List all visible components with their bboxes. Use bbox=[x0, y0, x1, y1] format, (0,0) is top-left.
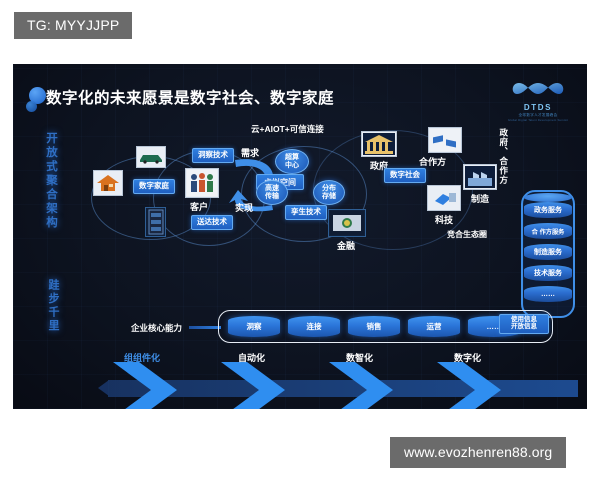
presentation-slide: 数字化的未来愿景是数字社会、数字家庭 DTDS 全球数字人才发展峰会 Globa… bbox=[13, 64, 587, 409]
pillar-layer: 技术服务 bbox=[524, 265, 572, 281]
journey-chevron bbox=[113, 362, 191, 409]
house-icon bbox=[93, 170, 123, 196]
label-customer: 客户 bbox=[190, 200, 208, 213]
label-realize: 实现 bbox=[235, 201, 253, 214]
node-distributed: 分布存储 bbox=[313, 180, 345, 205]
label-demand: 需求 bbox=[241, 146, 259, 159]
pillar-layer: 政务服务 bbox=[524, 202, 572, 218]
journey-step-label: 数智化 bbox=[346, 351, 373, 364]
label-partner: 合作方 bbox=[419, 155, 446, 168]
pillar-layer: 制造服务 bbox=[524, 244, 572, 260]
tag-digital-home: 数字家庭 bbox=[133, 179, 175, 194]
side-label-architecture: 开放式聚合架构 bbox=[43, 132, 59, 230]
capability-cylinder: 洞察 bbox=[228, 316, 280, 337]
capability-cylinder: 连接 bbox=[288, 316, 340, 337]
pillar-layer: …… bbox=[524, 286, 572, 302]
label-cloud-aiot: 云+AIOT+可信连接 bbox=[251, 123, 324, 135]
finance-bank-icon bbox=[328, 209, 366, 237]
core-capability-connector bbox=[189, 326, 221, 329]
journey-chevron bbox=[221, 362, 299, 409]
title-bullet-small-icon bbox=[26, 101, 37, 112]
journey-step-label: 组组件化 bbox=[124, 351, 160, 364]
url-watermark-badge: www.evozhenren88.org bbox=[390, 437, 566, 468]
screenshot-root: TG: MYYJJPP www.evozhenren88.org 数字化的未来愿… bbox=[0, 0, 600, 480]
government-building-icon bbox=[361, 131, 397, 157]
tag-digital-society: 数字社会 bbox=[384, 168, 426, 183]
capability-cylinder: 运营 bbox=[408, 316, 460, 337]
capability-cylinder: 销售 bbox=[348, 316, 400, 337]
tag-twin-tech: 孪生技术 bbox=[285, 205, 327, 220]
tag-insight-tech: 洞察技术 bbox=[192, 148, 234, 163]
journey-chevron bbox=[437, 362, 515, 409]
node-high-speed: 高速传输 bbox=[256, 180, 288, 205]
label-finance: 金融 bbox=[337, 239, 355, 252]
pillar-footer-tag: 使用信息开放信息 bbox=[499, 314, 549, 334]
label-manufacture: 制造 bbox=[471, 192, 489, 205]
journey-step-label: 自动化 bbox=[238, 351, 265, 364]
journey-step-label: 数字化 bbox=[454, 351, 481, 364]
logo-subtitle-en: Global Digital Talent Development Summit bbox=[503, 118, 573, 122]
infinity-logo-icon bbox=[509, 76, 567, 102]
customer-people-icon bbox=[185, 168, 219, 198]
technology-chip-icon bbox=[427, 185, 461, 211]
pillar-top-cap bbox=[524, 193, 572, 202]
node-supercompute: 超算中心 bbox=[275, 149, 309, 174]
slide-title: 数字化的未来愿景是数字社会、数字家庭 bbox=[46, 86, 334, 108]
logo-name: DTDS bbox=[503, 103, 573, 112]
partner-handshake-icon bbox=[428, 127, 462, 153]
side-label-journey: 跬步千里 bbox=[45, 279, 61, 333]
pillar-layer: 合 作方服务 bbox=[524, 223, 572, 239]
label-technology: 科技 bbox=[435, 213, 453, 226]
telegram-watermark-badge: TG: MYYJJPP bbox=[14, 12, 132, 39]
pillar-side-label: 政府、合作方 bbox=[498, 128, 508, 190]
server-rack-icon bbox=[145, 207, 166, 237]
manufacture-factory-icon bbox=[463, 164, 497, 190]
core-capability-label: 企业核心能力 bbox=[131, 322, 182, 334]
car-icon bbox=[136, 146, 166, 168]
dtds-logo: DTDS 全球数字人才发展峰会 Global Digital Talent De… bbox=[503, 76, 573, 122]
label-ecosystem: 竞合生态圈 bbox=[447, 229, 487, 240]
journey-chevron bbox=[329, 362, 407, 409]
